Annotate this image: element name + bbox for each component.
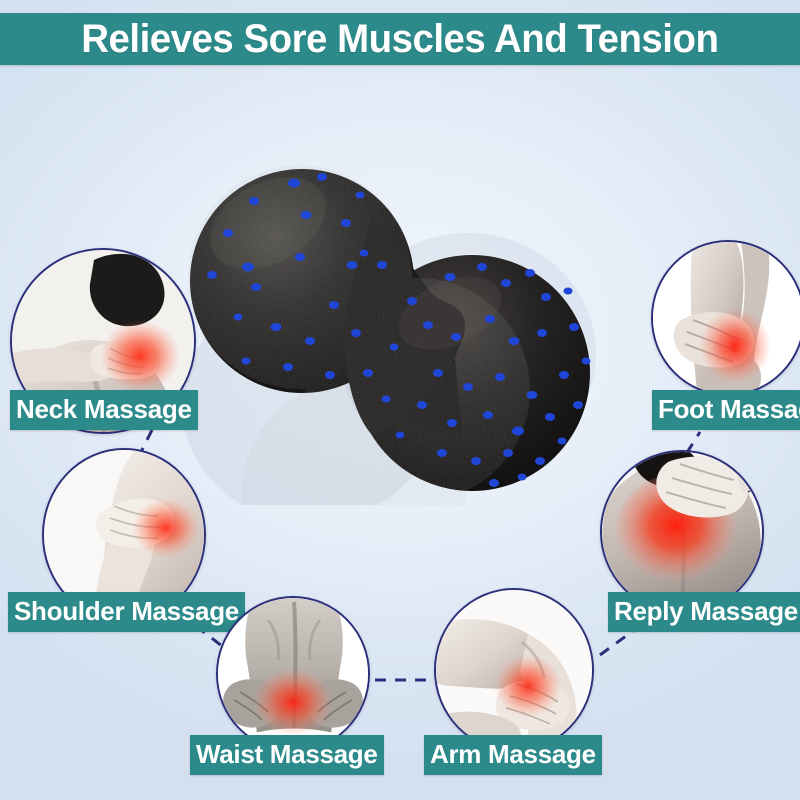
feature-image-foot (651, 240, 800, 396)
product-image (150, 105, 620, 505)
feature-label-foot: Foot Massage (652, 390, 800, 430)
feature-label-neck: Neck Massage (10, 390, 198, 430)
feature-label-waist: Waist Massage (190, 735, 384, 775)
feature-image-reply (600, 450, 764, 614)
product-feature-poster: Relieves Sore Muscles And Tension (0, 0, 800, 800)
feature-image-waist (216, 596, 370, 752)
feature-image-arm (434, 588, 594, 752)
feature-label-shoulder: Shoulder Massage (8, 592, 245, 632)
feature-label-reply: Reply Massage (608, 592, 800, 632)
feature-label-arm: Arm Massage (424, 735, 602, 775)
title-banner: Relieves Sore Muscles And Tension (0, 13, 800, 65)
page-title: Relieves Sore Muscles And Tension (81, 18, 718, 60)
